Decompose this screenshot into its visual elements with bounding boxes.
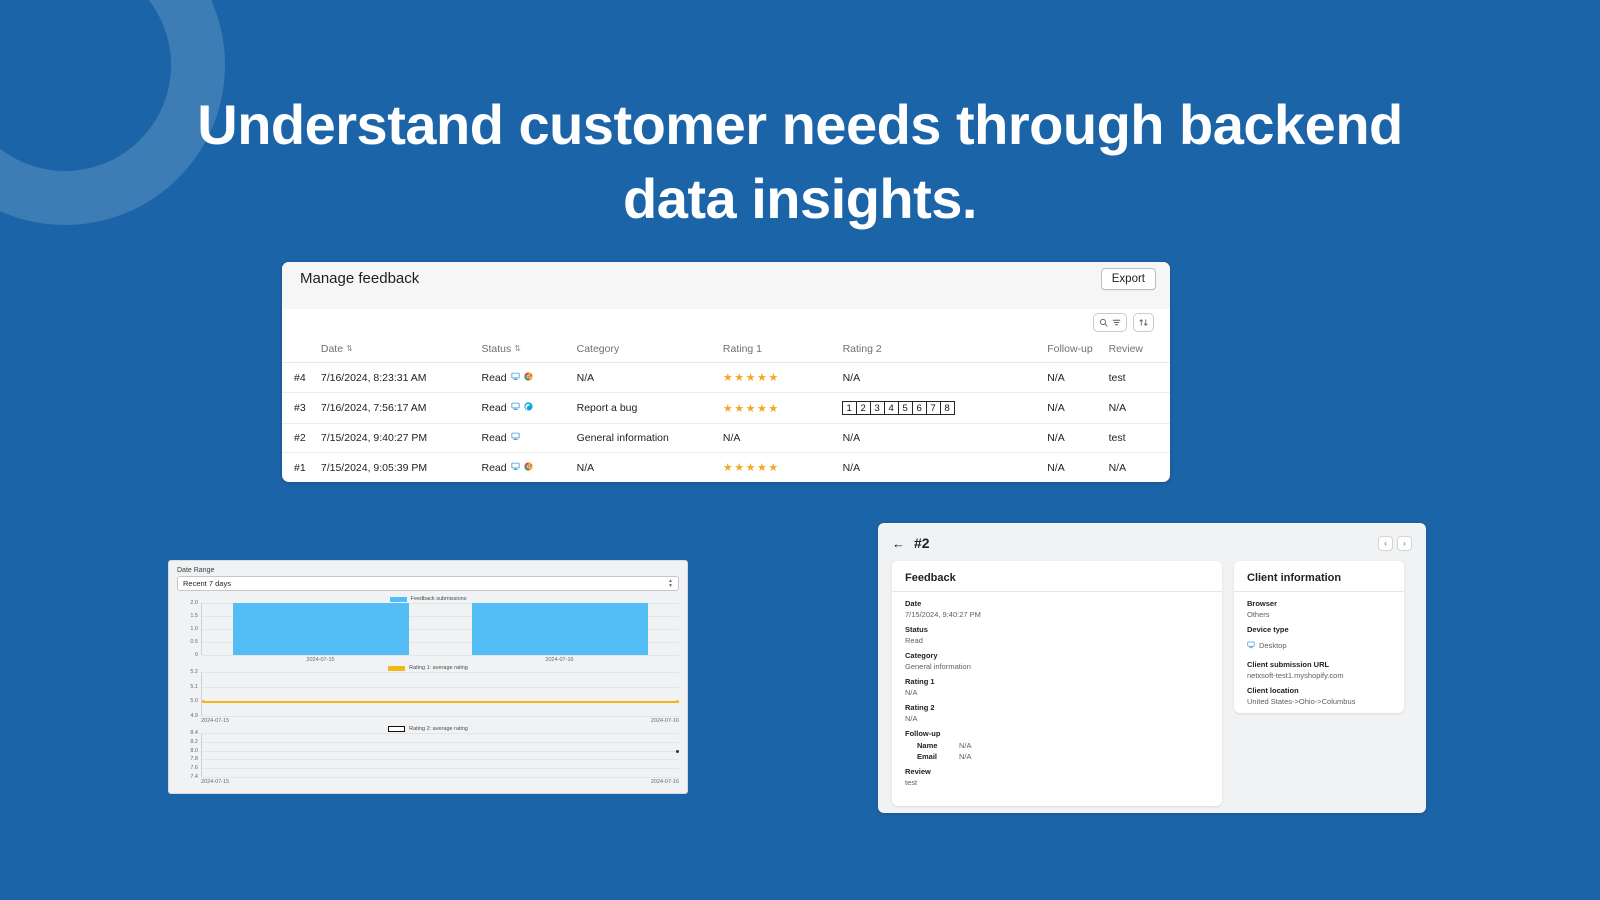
data-point xyxy=(676,750,679,753)
chart-1: Feedback submissions2.01.51.00.502024-07… xyxy=(177,596,679,665)
followup-rows: NameN/AEmailN/A xyxy=(905,741,1209,761)
row-status: Read xyxy=(481,453,576,483)
export-button[interactable]: Export xyxy=(1101,268,1156,290)
followup-key: Email xyxy=(917,752,947,761)
x-tick-label: 2024-07-16 xyxy=(651,718,679,724)
x-axis: 2024-07-152024-07-16 xyxy=(201,777,679,787)
y-tick-label: 0 xyxy=(195,652,198,658)
legend-swatch xyxy=(388,666,405,671)
row-review: N/A xyxy=(1109,393,1170,424)
feedback-fields: Date7/15/2024, 9:40:27 PMStatusReadCateg… xyxy=(905,599,1209,723)
rating2-number-scale[interactable]: 12345678 xyxy=(843,401,955,415)
browser-label: Browser xyxy=(1247,599,1391,608)
plot-area: 2.01.51.00.50 xyxy=(201,603,679,655)
legend-label: Rating 2: average rating xyxy=(409,726,468,732)
followup-key: Name xyxy=(917,741,947,750)
line-series xyxy=(202,701,679,703)
gridline xyxy=(202,751,679,752)
record-pager: ‹ › xyxy=(1378,536,1412,551)
y-tick-label: 8.2 xyxy=(190,739,198,745)
row-rating1: N/A xyxy=(723,424,843,453)
chart-3: Rating 2: average rating8.48.28.07.87.67… xyxy=(177,726,679,787)
y-tick-label: 4.9 xyxy=(190,713,198,719)
feedback-detail-card: ← #2 ‹ › Feedback Date7/15/2024, 9:40:27… xyxy=(878,523,1426,813)
row-rating1: ★★★★★ xyxy=(723,453,843,483)
review-label: Review xyxy=(905,767,1209,776)
status-text: Read xyxy=(481,432,506,444)
y-tick-label: 2.0 xyxy=(190,600,198,606)
feedback-table: Date⇅ Status⇅ Category Rating 1 Rating 2… xyxy=(282,337,1170,482)
client-information-panel: Client information Browser Others Device… xyxy=(1234,561,1404,713)
legend-label: Rating 1: average rating xyxy=(409,665,468,671)
row-rating2: N/A xyxy=(843,363,1048,393)
detail-record-id: #2 xyxy=(914,535,930,551)
row-date: 7/16/2024, 7:56:17 AM xyxy=(321,393,482,424)
rating1-value: N/A xyxy=(723,432,741,444)
bar xyxy=(233,603,409,655)
row-rating1: ★★★★★ xyxy=(723,393,843,424)
x-tick-label: 2024-07-16 xyxy=(651,779,679,785)
y-axis: 8.48.28.07.87.67.4 xyxy=(178,733,200,777)
chart-legend: Rating 2: average rating xyxy=(177,726,679,732)
charts-container: Feedback submissions2.01.51.00.502024-07… xyxy=(177,596,679,787)
col-review: Review xyxy=(1109,337,1170,363)
client-location-value: United States->Ohio->Columbus xyxy=(1247,697,1391,706)
y-tick-label: 8.4 xyxy=(190,730,198,736)
field-value: General information xyxy=(905,662,1209,671)
followup-row: EmailN/A xyxy=(917,752,1209,761)
next-record-button[interactable]: › xyxy=(1397,536,1412,551)
row-rating2: N/A xyxy=(843,424,1048,453)
rating2-number-box[interactable]: 1 xyxy=(842,401,857,415)
date-range-select[interactable]: Recent 7 days ▲▼ xyxy=(177,576,679,591)
x-tick-label: 2024-07-15 xyxy=(201,718,229,724)
field-label: Rating 1 xyxy=(905,677,1209,686)
table-header-row: Date⇅ Status⇅ Category Rating 1 Rating 2… xyxy=(282,337,1170,363)
review-value: test xyxy=(905,778,1209,787)
row-index: #4 xyxy=(282,363,321,393)
filter-icon[interactable] xyxy=(1112,318,1121,327)
col-date[interactable]: Date⇅ xyxy=(321,337,482,363)
gridline xyxy=(202,687,679,688)
device-type-value: Desktop xyxy=(1259,641,1287,650)
client-location-label: Client location xyxy=(1247,686,1391,695)
panel-divider xyxy=(1234,591,1404,592)
table-row[interactable]: #37/16/2024, 7:56:17 AMReadReport a bug★… xyxy=(282,393,1170,424)
field-label: Rating 2 xyxy=(905,703,1209,712)
gridline xyxy=(202,733,679,734)
status-text: Read xyxy=(481,402,506,414)
y-tick-label: 0.5 xyxy=(190,639,198,645)
chart-legend: Rating 1: average rating xyxy=(177,665,679,671)
col-category: Category xyxy=(577,337,723,363)
col-status[interactable]: Status⇅ xyxy=(481,337,576,363)
row-status: Read xyxy=(481,424,576,453)
sort-caret-icon[interactable]: ⇅ xyxy=(346,345,353,353)
y-tick-label: 7.8 xyxy=(190,756,198,762)
chevron-updown-icon[interactable]: ▲▼ xyxy=(668,579,673,589)
y-axis: 5.25.15.04.9 xyxy=(178,672,200,716)
sort-button[interactable] xyxy=(1133,313,1154,332)
card-header: Manage feedback Export xyxy=(282,262,1170,295)
x-axis: 2024-07-152024-07-16 xyxy=(201,655,679,665)
bar xyxy=(472,603,648,655)
field-value: N/A xyxy=(905,688,1209,697)
table-toolbar xyxy=(282,309,1170,337)
row-status: Read xyxy=(481,363,576,393)
desktop-icon xyxy=(511,372,520,384)
row-rating1: ★★★★★ xyxy=(723,363,843,393)
row-date: 7/16/2024, 8:23:31 AM xyxy=(321,363,482,393)
row-followup: N/A xyxy=(1047,393,1108,424)
gridline xyxy=(202,768,679,769)
gridline xyxy=(202,742,679,743)
row-rating2: N/A xyxy=(843,453,1048,483)
gridline xyxy=(202,759,679,760)
row-followup: N/A xyxy=(1047,453,1108,483)
search-icon[interactable] xyxy=(1099,318,1108,327)
field-label: Status xyxy=(905,625,1209,634)
panel-divider xyxy=(892,591,1222,592)
x-tick-label: 2024-07-15 xyxy=(306,657,334,663)
field-label: Category xyxy=(905,651,1209,660)
rating2-value: N/A xyxy=(843,372,861,384)
legend-label: Feedback submissions xyxy=(411,596,467,602)
y-tick-label: 5.0 xyxy=(190,698,198,704)
field-label: Date xyxy=(905,599,1209,608)
chrome-icon xyxy=(524,372,533,384)
client-panel-heading: Client information xyxy=(1247,572,1391,584)
feedback-panel-heading: Feedback xyxy=(905,572,1209,584)
field-value: N/A xyxy=(905,714,1209,723)
device-type-label: Device type xyxy=(1247,625,1391,634)
rating2-number-box[interactable]: 8 xyxy=(940,401,955,415)
x-tick-label: 2024-07-16 xyxy=(545,657,573,663)
rating2-number-box[interactable]: 7 xyxy=(926,401,941,415)
submission-url-value: netxsoft-test1.myshopify.com xyxy=(1247,671,1391,680)
edge-icon xyxy=(524,402,533,414)
table-body: #47/16/2024, 8:23:31 AMReadN/A★★★★★N/AN/… xyxy=(282,363,1170,483)
row-category: N/A xyxy=(577,453,723,483)
card-title: Manage feedback xyxy=(300,270,419,287)
gridline xyxy=(202,672,679,673)
rating2-value: N/A xyxy=(843,432,861,444)
rating1-stars: ★★★★★ xyxy=(723,462,780,474)
rating2-number-box[interactable]: 2 xyxy=(856,401,871,415)
row-date: 7/15/2024, 9:05:39 PM xyxy=(321,453,482,483)
row-category: N/A xyxy=(577,363,723,393)
y-tick-label: 1.5 xyxy=(190,613,198,619)
col-status-label: Status xyxy=(481,343,511,355)
y-tick-label: 5.1 xyxy=(190,684,198,690)
y-tick-label: 8.0 xyxy=(190,748,198,754)
desktop-icon xyxy=(511,432,520,444)
followup-value: N/A xyxy=(959,752,972,761)
row-followup: N/A xyxy=(1047,424,1108,453)
legend-swatch xyxy=(390,597,407,602)
desktop-icon xyxy=(511,462,520,474)
y-tick-label: 5.2 xyxy=(190,669,198,675)
row-rating2: 12345678 xyxy=(843,393,1048,424)
col-date-label: Date xyxy=(321,343,343,355)
search-filter-group[interactable] xyxy=(1093,313,1127,332)
table-row[interactable]: #47/16/2024, 8:23:31 AMReadN/A★★★★★N/AN/… xyxy=(282,363,1170,393)
status-text: Read xyxy=(481,372,506,384)
rating1-stars: ★★★★★ xyxy=(723,372,780,384)
table-row[interactable]: #27/15/2024, 9:40:27 PMReadGeneral infor… xyxy=(282,424,1170,453)
col-rating1: Rating 1 xyxy=(723,337,843,363)
rating1-stars: ★★★★★ xyxy=(723,403,780,415)
followup-label: Follow-up xyxy=(905,729,1209,738)
card-subbar xyxy=(282,295,1170,308)
analytics-chart-card: Date Range Recent 7 days ▲▼ Feedback sub… xyxy=(168,560,688,794)
y-tick-label: 1.0 xyxy=(190,626,198,632)
date-range-value: Recent 7 days xyxy=(183,579,231,588)
rating2-number-box[interactable]: 5 xyxy=(898,401,913,415)
browser-value: Others xyxy=(1247,610,1391,619)
desktop-icon xyxy=(511,402,520,414)
rating2-value: N/A xyxy=(843,462,861,474)
col-followup: Follow-up xyxy=(1047,337,1108,363)
row-index: #2 xyxy=(282,424,321,453)
desktop-icon xyxy=(1247,636,1255,654)
page-headline: Understand customer needs through backen… xyxy=(0,88,1600,237)
row-category: Report a bug xyxy=(577,393,723,424)
rating2-number-box[interactable]: 6 xyxy=(912,401,927,415)
status-text: Read xyxy=(481,462,506,474)
plot-area: 8.48.28.07.87.67.4 xyxy=(201,733,679,777)
sort-icon[interactable] xyxy=(1139,318,1148,327)
row-status: Read xyxy=(481,393,576,424)
rating2-number-box[interactable]: 4 xyxy=(884,401,899,415)
x-axis: 2024-07-152024-07-16 xyxy=(201,716,679,726)
followup-row: NameN/A xyxy=(917,741,1209,750)
x-tick-label: 2024-07-15 xyxy=(201,779,229,785)
legend-swatch xyxy=(388,726,405,732)
back-arrow-icon[interactable]: ← xyxy=(892,537,905,550)
detail-header: ← #2 ‹ › xyxy=(892,535,1412,551)
row-review: test xyxy=(1109,424,1170,453)
chrome-icon xyxy=(524,462,533,474)
plot-area: 5.25.15.04.9 xyxy=(201,672,679,716)
y-tick-label: 7.6 xyxy=(190,765,198,771)
field-value: 7/15/2024, 9:40:27 PM xyxy=(905,610,1209,619)
chart-legend: Feedback submissions xyxy=(177,596,679,602)
col-rating2: Rating 2 xyxy=(843,337,1048,363)
y-axis: 2.01.51.00.50 xyxy=(178,603,200,655)
prev-record-button[interactable]: ‹ xyxy=(1378,536,1393,551)
y-tick-label: 7.4 xyxy=(190,774,198,780)
col-index xyxy=(282,337,321,363)
row-followup: N/A xyxy=(1047,363,1108,393)
row-date: 7/15/2024, 9:40:27 PM xyxy=(321,424,482,453)
row-review: test xyxy=(1109,363,1170,393)
chart-2: Rating 1: average rating5.25.15.04.92024… xyxy=(177,665,679,726)
field-value: Read xyxy=(905,636,1209,645)
table-row[interactable]: #17/15/2024, 9:05:39 PMReadN/A★★★★★N/AN/… xyxy=(282,453,1170,483)
manage-feedback-card: Manage feedback Export Date⇅ xyxy=(282,262,1170,482)
followup-value: N/A xyxy=(959,741,972,750)
row-index: #3 xyxy=(282,393,321,424)
feedback-panel: Feedback Date7/15/2024, 9:40:27 PMStatus… xyxy=(892,561,1222,806)
sort-caret-icon[interactable]: ⇅ xyxy=(514,345,521,353)
row-category: General information xyxy=(577,424,723,453)
row-review: N/A xyxy=(1109,453,1170,483)
date-range-label: Date Range xyxy=(177,567,679,574)
rating2-number-box[interactable]: 3 xyxy=(870,401,885,415)
row-index: #1 xyxy=(282,453,321,483)
submission-url-label: Client submission URL xyxy=(1247,660,1391,669)
